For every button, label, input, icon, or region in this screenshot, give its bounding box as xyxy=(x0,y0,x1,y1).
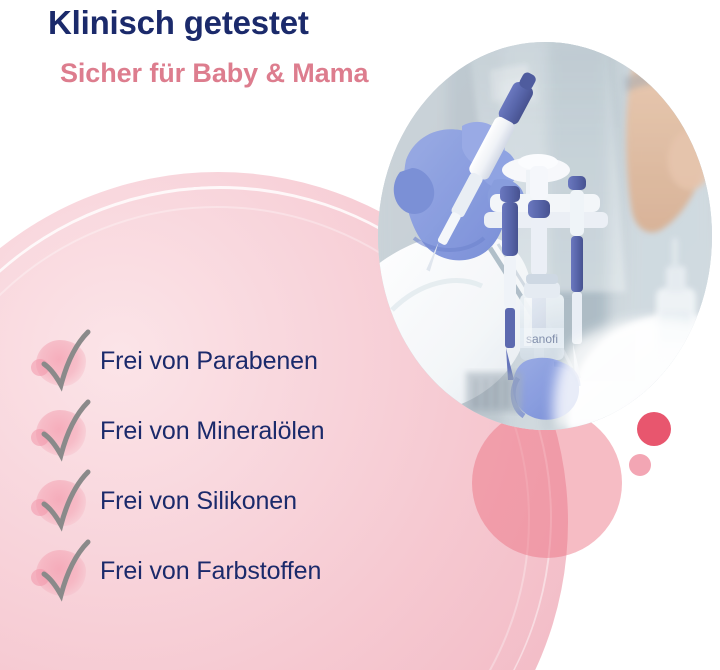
check-icon xyxy=(30,468,100,534)
check-icon-glyph xyxy=(30,538,100,604)
page-title: Klinisch getestet xyxy=(48,4,309,42)
check-icon-glyph xyxy=(30,468,100,534)
list-item: Frei von Silikonen xyxy=(30,466,430,536)
list-item-label: Frei von Silikonen xyxy=(100,487,297,516)
promo-poster: sanofi Klinisc xyxy=(0,0,720,670)
check-icon-glyph xyxy=(30,398,100,464)
list-item-label: Frei von Mineralölen xyxy=(100,417,325,446)
check-icon xyxy=(30,328,100,394)
list-item: Frei von Farbstoffen xyxy=(30,536,430,606)
accent-dot-small xyxy=(629,454,651,476)
feature-list: Frei von Parabenen Frei von Mineralölen … xyxy=(30,326,430,606)
rose-circle-decoration xyxy=(472,408,622,558)
page-subtitle: Sicher für Baby & Mama xyxy=(60,58,368,89)
list-item: Frei von Parabenen xyxy=(30,326,430,396)
accent-dot-large xyxy=(637,412,671,446)
list-item-label: Frei von Parabenen xyxy=(100,347,318,376)
list-item: Frei von Mineralölen xyxy=(30,396,430,466)
check-icon xyxy=(30,538,100,604)
list-item-label: Frei von Farbstoffen xyxy=(100,557,321,586)
check-icon xyxy=(30,398,100,464)
check-icon-glyph xyxy=(30,328,100,394)
